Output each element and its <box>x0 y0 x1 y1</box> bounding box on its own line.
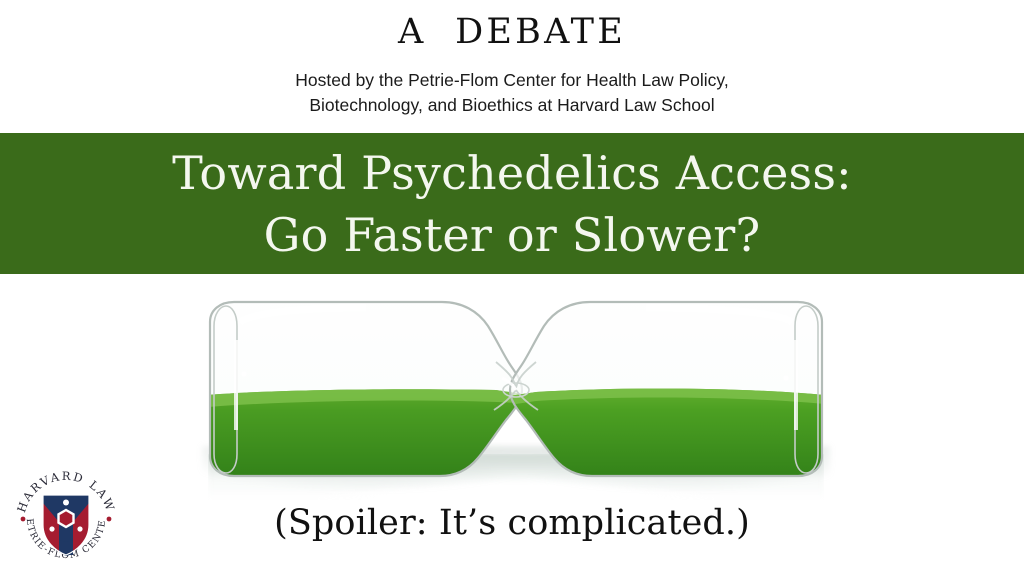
subtitle-line-1: Hosted by the Petrie-Flom Center for Hea… <box>0 68 1024 93</box>
spoiler-text: (Spoiler: It’s complicated.) <box>0 499 1024 547</box>
title-banner: Toward Psychedelics Access: Go Faster or… <box>0 133 1024 274</box>
banner-title-line-1: Toward Psychedelics Access: <box>172 142 852 204</box>
page-title: A DEBATE <box>0 11 1024 53</box>
logo-dot-right <box>107 517 112 522</box>
harvard-law-petrie-flom-logo: HARVARD LAW PETRIE-FLOM CENTER <box>10 462 122 574</box>
logo-dot-left <box>21 517 26 522</box>
banner-title-line-2: Go Faster or Slower? <box>264 204 761 266</box>
subtitle-line-2: Biotechnology, and Bioethics at Harvard … <box>0 93 1024 118</box>
presentation-slide: A DEBATE Hosted by the Petrie-Flom Cente… <box>0 0 1024 576</box>
sand-right <box>496 389 836 488</box>
event-host-subtitle: Hosted by the Petrie-Flom Center for Hea… <box>0 68 1024 118</box>
